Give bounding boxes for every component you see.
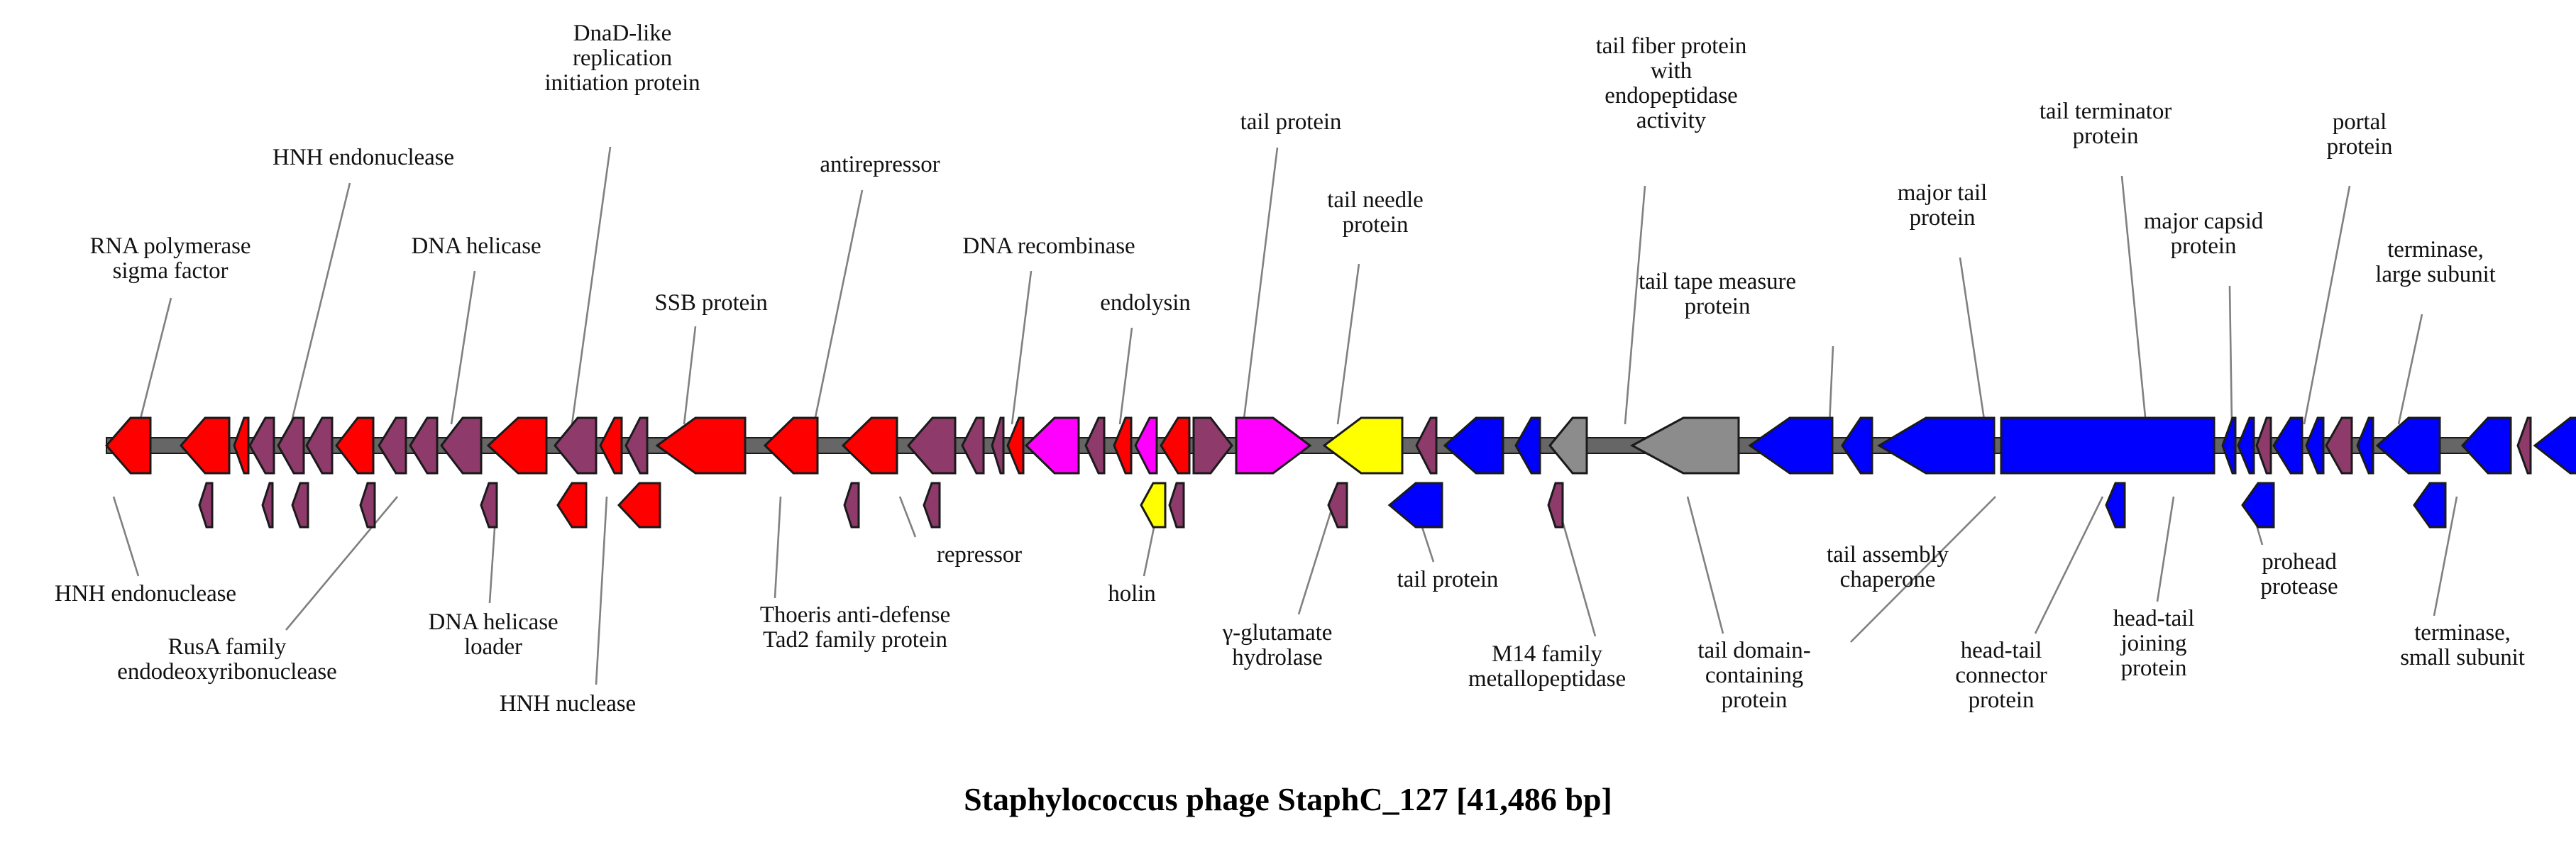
gene-arrow[interactable] [2357, 418, 2373, 473]
gene-arrow[interactable] [2257, 418, 2271, 473]
gene-arrow[interactable] [2223, 418, 2235, 473]
leader-line [900, 497, 915, 537]
gene-arrow-small[interactable] [292, 483, 308, 527]
leader-line [572, 147, 610, 424]
gene-arrow[interactable] [2001, 418, 2214, 473]
leader-line [1625, 186, 1645, 424]
gene-arrow[interactable] [1879, 418, 1994, 473]
gene-arrow-small[interactable] [844, 483, 859, 527]
gene-arrow[interactable] [992, 418, 1003, 473]
gene-arrow[interactable] [1516, 418, 1540, 473]
leader-line [1243, 148, 1277, 424]
gene-arrow[interactable] [307, 418, 332, 473]
leader-line [1688, 497, 1723, 634]
gene-arrow[interactable] [2377, 418, 2440, 473]
gene-arrow[interactable] [765, 418, 818, 473]
gene-arrow-small[interactable] [2106, 483, 2125, 527]
gene-arrow[interactable] [555, 418, 596, 473]
gene-arrow[interactable] [2462, 418, 2511, 473]
gene-arrow-small[interactable] [2242, 483, 2274, 527]
leader-line [2157, 497, 2174, 602]
gene-arrow[interactable] [843, 418, 897, 473]
leader-line [1012, 271, 1031, 424]
gene-arrow-small[interactable] [1548, 483, 1563, 527]
gene-arrow[interactable] [410, 418, 437, 473]
gene-arrow[interactable] [1416, 418, 1436, 473]
genome-map-figure: RNA polymerasesigma factorHNH endonuclea… [0, 0, 2576, 857]
gene-arrow-small[interactable] [1169, 483, 1184, 527]
gene-arrow[interactable] [1550, 418, 1587, 473]
leader-line [2399, 314, 2422, 424]
gene-arrow[interactable] [657, 418, 745, 473]
gene-arrow[interactable] [1632, 418, 1739, 473]
gene-arrow[interactable] [278, 418, 304, 473]
gene-arrow-small[interactable] [924, 483, 940, 527]
gene-arrows-main-track [106, 418, 2576, 473]
gene-arrow[interactable] [106, 418, 150, 473]
gene-arrow-small[interactable] [558, 483, 586, 527]
gene-arrow-small[interactable] [263, 483, 273, 527]
gene-arrow[interactable] [908, 418, 955, 473]
leader-line-group [114, 147, 2457, 685]
leader-line [596, 497, 607, 685]
leader-line [2304, 186, 2350, 424]
gene-arrow[interactable] [1445, 418, 1503, 473]
gene-arrow-small[interactable] [199, 483, 212, 527]
leader-line [684, 326, 695, 424]
leader-line [775, 497, 781, 598]
leader-line [1829, 346, 1833, 424]
gene-arrow[interactable] [1324, 418, 1402, 473]
gene-arrow-small[interactable] [619, 483, 660, 527]
gene-arrow[interactable] [1008, 418, 1023, 473]
leader-line [451, 271, 475, 424]
gene-arrow[interactable] [181, 418, 229, 473]
gene-arrow[interactable] [234, 418, 248, 473]
page-title: Staphylococcus phage StaphC_127 [41,486 … [964, 780, 1612, 818]
leader-line [814, 190, 862, 424]
gene-arrow[interactable] [600, 418, 622, 473]
gene-arrow[interactable] [2238, 418, 2254, 473]
gene-arrow[interactable] [441, 418, 481, 473]
gene-arrow[interactable] [488, 418, 546, 473]
gene-arrow[interactable] [1135, 418, 1157, 473]
gene-arrow[interactable] [2535, 418, 2576, 473]
leader-line [2230, 286, 2232, 424]
gene-arrow-small[interactable] [2414, 483, 2445, 527]
gene-arrows-lower-track [199, 483, 2445, 527]
leader-line [2122, 176, 2146, 424]
leader-line [291, 183, 350, 424]
gene-arrow[interactable] [2326, 418, 2352, 473]
gene-arrow[interactable] [962, 418, 984, 473]
gene-arrow[interactable] [379, 418, 406, 473]
gene-arrow[interactable] [336, 418, 373, 473]
leader-line [1338, 264, 1359, 424]
gene-arrow[interactable] [1194, 418, 1232, 473]
gene-arrow[interactable] [1161, 418, 1189, 473]
gene-arrow[interactable] [2274, 418, 2302, 473]
gene-arrow[interactable] [626, 418, 647, 473]
leader-line [114, 497, 138, 576]
leader-line [2035, 497, 2103, 634]
gene-arrow-small[interactable] [481, 483, 497, 527]
leader-line [1851, 497, 1996, 642]
gene-arrow-small[interactable] [1328, 483, 1347, 527]
genome-map-canvas [0, 0, 2576, 857]
gene-arrow[interactable] [2306, 418, 2323, 473]
gene-arrow[interactable] [1750, 418, 1832, 473]
gene-arrow[interactable] [1114, 418, 1131, 473]
leader-line [1120, 328, 1132, 424]
gene-arrow[interactable] [250, 418, 274, 473]
leader-line [139, 298, 171, 424]
gene-arrow[interactable] [1236, 418, 1310, 473]
leader-line [1299, 497, 1336, 614]
gene-arrow[interactable] [1086, 418, 1104, 473]
gene-arrow-small[interactable] [360, 483, 375, 527]
gene-arrow-small[interactable] [1389, 483, 1442, 527]
gene-arrow[interactable] [1026, 418, 1079, 473]
gene-arrow[interactable] [1842, 418, 1872, 473]
leader-line [1960, 258, 1985, 424]
gene-arrow-small[interactable] [1141, 483, 1165, 527]
gene-arrow[interactable] [2518, 418, 2531, 473]
